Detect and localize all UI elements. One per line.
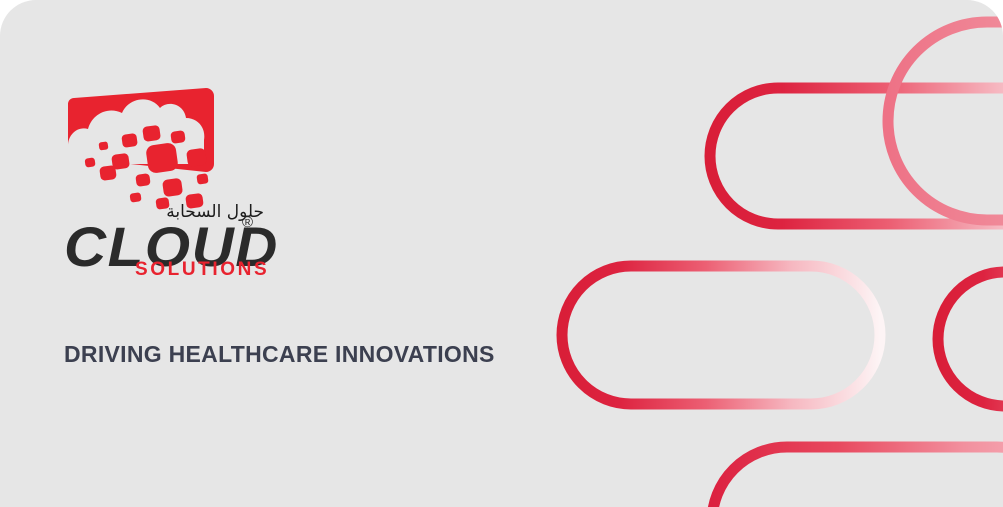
registered-trademark-icon: ® <box>242 215 253 230</box>
cloud-logo-mark-icon <box>64 86 239 211</box>
pill-upper-main <box>710 88 1003 224</box>
pill-top-right <box>888 22 1003 220</box>
pill-right-edge <box>938 272 1003 406</box>
pill-middle <box>562 266 880 404</box>
pill-bottom <box>712 447 1003 507</box>
tagline: DRIVING HEALTHCARE INNOVATIONS <box>64 341 495 369</box>
logo: حلول السحابة CLOUD ® SOLUTIONS <box>64 86 264 281</box>
banner-card: حلول السحابة CLOUD ® SOLUTIONS DRIVING H… <box>0 0 1003 507</box>
logo-sub-wordmark: SOLUTIONS <box>135 260 269 279</box>
